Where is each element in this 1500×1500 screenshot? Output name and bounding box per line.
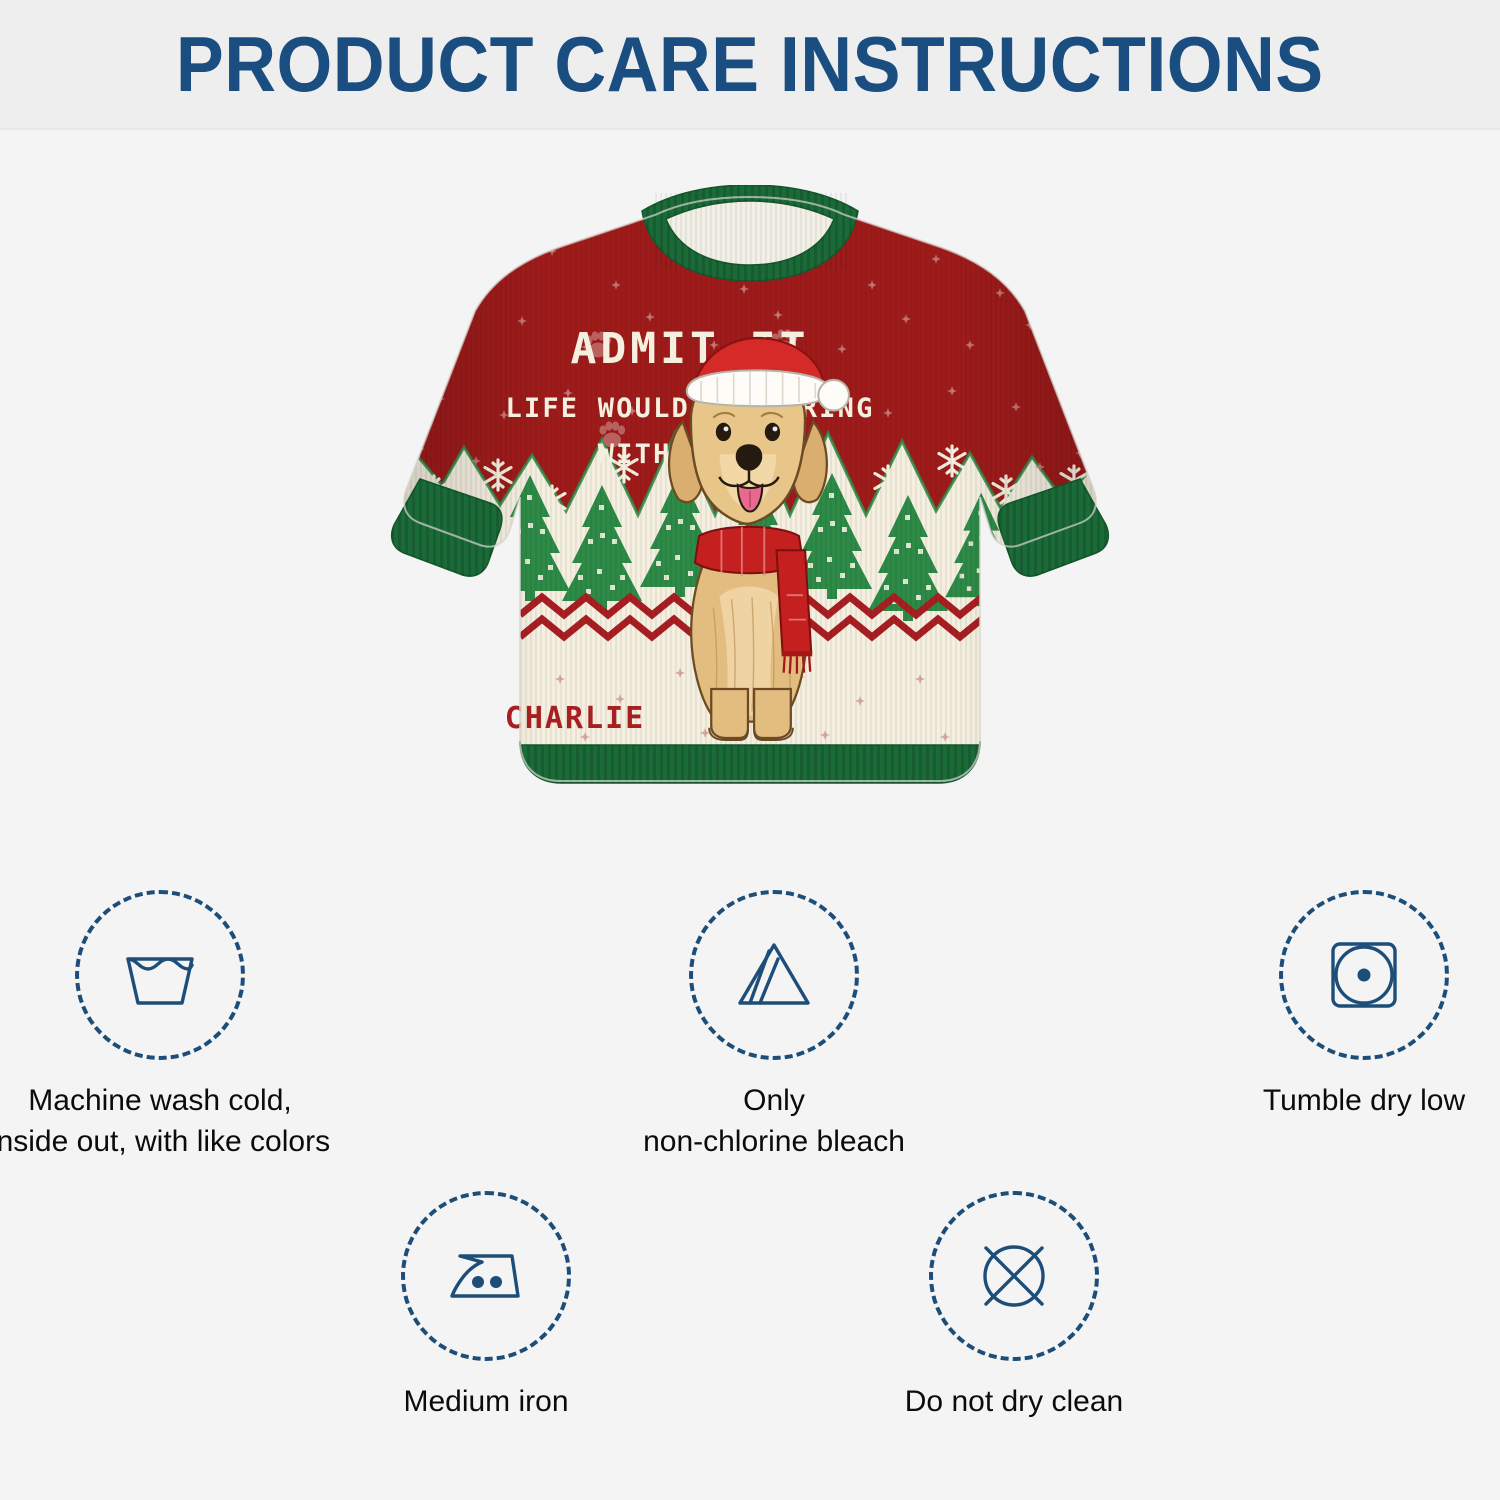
tumble-dry-low-icon bbox=[1318, 929, 1410, 1021]
care-item-label: Medium iron bbox=[403, 1381, 568, 1422]
care-item-label: Machine wash cold, inside out, with like… bbox=[0, 1080, 375, 1163]
care-item-label: Do not dry clean bbox=[905, 1381, 1123, 1422]
page-header: PRODUCT CARE INSTRUCTIONS bbox=[0, 0, 1500, 128]
sweater-illustration: ADMIT IT LIFE WOULD BE BORING WITHOUT ME… bbox=[380, 185, 1120, 845]
care-item-non-chlorine-bleach[interactable]: Only non-chlorine bleach bbox=[638, 890, 910, 1163]
care-instructions-section: Machine wash cold, inside out, with like… bbox=[0, 890, 1500, 1500]
sweater-collar bbox=[642, 185, 858, 281]
care-icon-circle bbox=[929, 1191, 1099, 1361]
machine-wash-icon bbox=[114, 929, 206, 1021]
non-chlorine-bleach-icon bbox=[728, 929, 820, 1021]
care-icon-circle bbox=[1279, 890, 1449, 1060]
page-title: PRODUCT CARE INSTRUCTIONS bbox=[176, 25, 1324, 103]
sweater-hem bbox=[520, 741, 980, 783]
care-icon-circle bbox=[689, 890, 859, 1060]
care-icon-circle bbox=[401, 1191, 571, 1361]
care-item-tumble-dry-low[interactable]: Tumble dry low bbox=[1228, 890, 1500, 1121]
care-row-top: Machine wash cold, inside out, with like… bbox=[0, 890, 1500, 1163]
personalized-name: CHARLIE bbox=[505, 701, 645, 736]
sweater-product-image: ADMIT IT LIFE WOULD BE BORING WITHOUT ME… bbox=[380, 185, 1120, 845]
care-row-bottom: Medium iron Do not dry clean bbox=[0, 1191, 1500, 1422]
care-item-label: Tumble dry low bbox=[1263, 1080, 1465, 1121]
medium-iron-icon bbox=[440, 1230, 532, 1322]
care-icon-circle bbox=[75, 890, 245, 1060]
do-not-dry-clean-icon bbox=[968, 1230, 1060, 1322]
care-item-machine-wash[interactable]: Machine wash cold, inside out, with like… bbox=[0, 890, 320, 1163]
care-item-medium-iron[interactable]: Medium iron bbox=[326, 1191, 646, 1422]
care-item-do-not-dry-clean[interactable]: Do not dry clean bbox=[854, 1191, 1174, 1422]
product-image-area: ADMIT IT LIFE WOULD BE BORING WITHOUT ME… bbox=[0, 130, 1500, 890]
care-item-label: Only non-chlorine bleach bbox=[643, 1080, 905, 1163]
